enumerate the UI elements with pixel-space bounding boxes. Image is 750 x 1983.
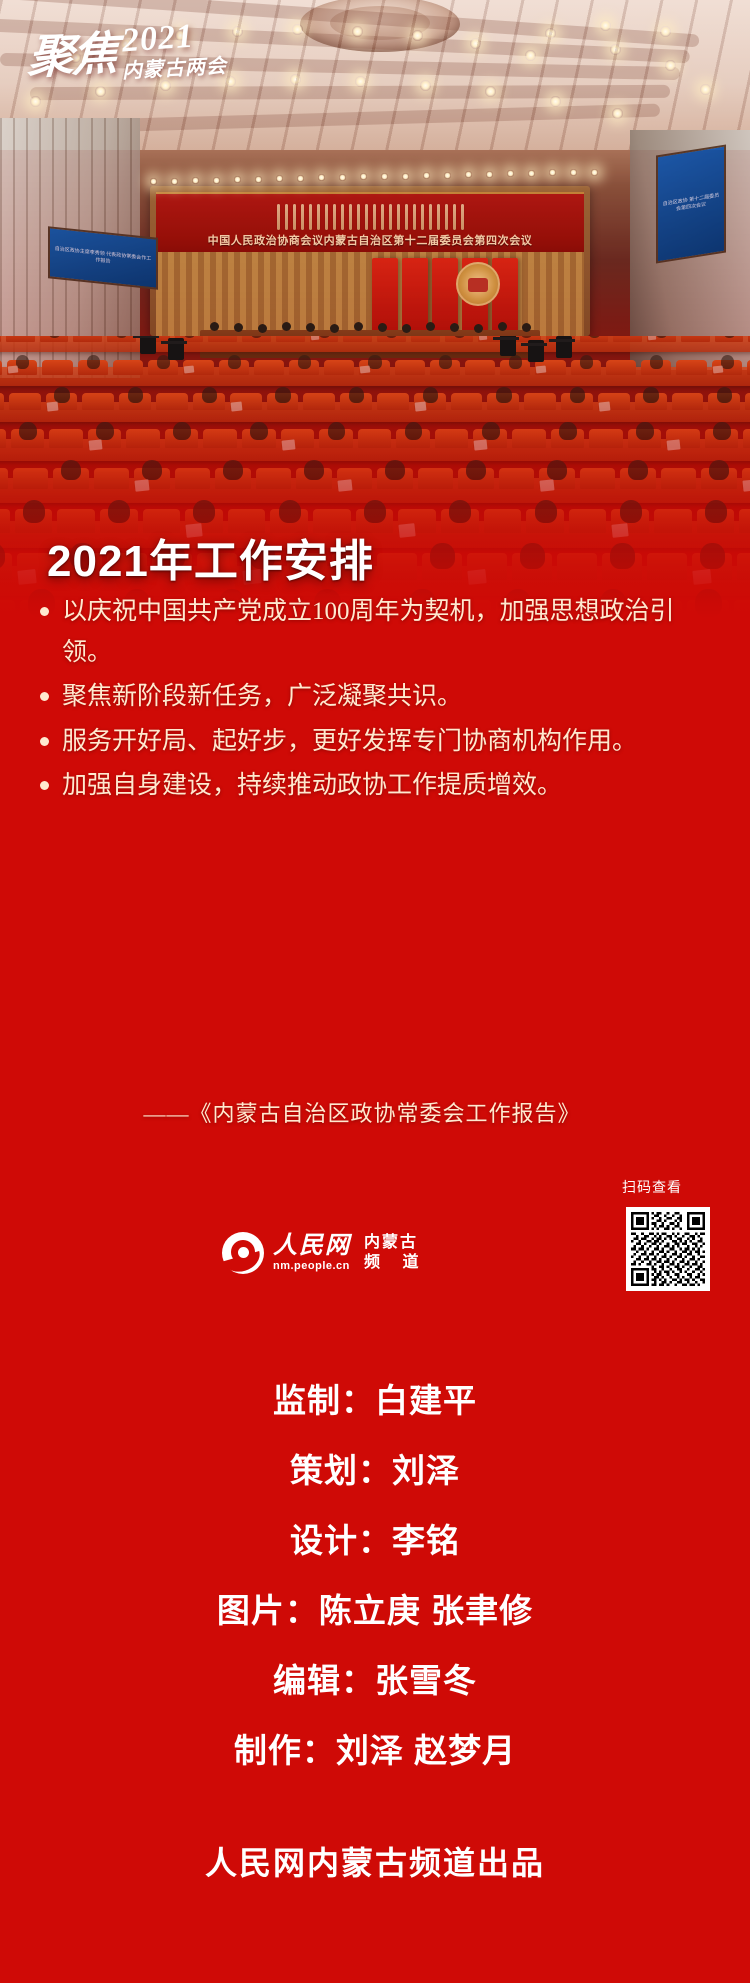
presidium-member bbox=[402, 324, 411, 333]
ceiling-light-icon bbox=[352, 26, 363, 37]
bullet-dot-icon bbox=[40, 781, 49, 790]
ceiling-light-icon bbox=[610, 44, 621, 55]
presidium-member bbox=[474, 324, 483, 333]
presidium-member bbox=[378, 323, 387, 332]
credit-line-producer: 监制：白建平 bbox=[0, 1374, 750, 1422]
qr-code-icon bbox=[631, 1212, 705, 1286]
brand-name-cn: 人民网 bbox=[273, 1234, 351, 1258]
credit-line-editor: 编辑：张雪冬 bbox=[0, 1654, 750, 1702]
ceiling-light-icon bbox=[665, 60, 676, 71]
brand-wordmark: 人民网 nm.people.cn bbox=[273, 1234, 351, 1272]
ceiling-light-icon bbox=[30, 96, 41, 107]
stage-light-icon bbox=[339, 174, 346, 181]
bullet-dot-icon bbox=[40, 737, 49, 746]
ceiling-light-icon bbox=[355, 76, 366, 87]
list-item: 加强自身建设，持续推动政协工作提质增效。 bbox=[40, 766, 706, 807]
list-item: 服务开好局、起好步，更好发挥专门协商机构作用。 bbox=[40, 722, 706, 763]
presidium-member bbox=[330, 324, 339, 333]
ceiling-light-icon bbox=[420, 80, 431, 91]
presidium-member bbox=[498, 322, 507, 331]
logo-brush-title: 聚焦 bbox=[27, 31, 118, 82]
poster-root: 中国人民政治协商会议内蒙古自治区第十二届委员会第四次会议 自治区政协主席李秀领 … bbox=[0, 0, 750, 1983]
list-item: 以庆祝中国共产党成立100周年为契机，加强思想政治引领。 bbox=[40, 592, 706, 673]
ceiling-light-icon bbox=[412, 30, 423, 41]
stage-light-icon bbox=[549, 169, 556, 176]
ceiling-light-icon bbox=[470, 38, 481, 49]
stage-light-icon bbox=[570, 169, 577, 176]
ceiling-light-icon bbox=[292, 24, 303, 35]
stage-light-icon bbox=[297, 175, 304, 182]
logo-subtitle: 内蒙古两会 bbox=[122, 56, 228, 81]
stage-light-icon bbox=[507, 170, 514, 177]
list-item: 聚焦新阶段新任务，广泛凝聚共识。 bbox=[40, 677, 706, 718]
ceiling-light-icon bbox=[525, 50, 536, 61]
stage-light-icon bbox=[444, 172, 451, 179]
credit-line-planner: 策划：刘泽 bbox=[0, 1444, 750, 1492]
logo-year: 2021 bbox=[121, 20, 195, 59]
presidium-member bbox=[450, 323, 459, 332]
bullet-dot-icon bbox=[40, 607, 49, 616]
qr-code[interactable] bbox=[626, 1207, 710, 1291]
stage-light-icon bbox=[192, 177, 199, 184]
logo-right-stack: 2021 内蒙古两会 bbox=[122, 22, 227, 79]
ceiling-light-icon bbox=[550, 96, 561, 107]
ceiling-light-icon bbox=[160, 80, 171, 91]
stage-light-icon bbox=[150, 178, 157, 185]
stage-light-icon bbox=[255, 176, 262, 183]
work-plan-list: 以庆祝中国共产党成立100周年为契机，加强思想政治引领。 聚焦新阶段新任务，广泛… bbox=[40, 592, 706, 811]
ceiling-light-icon bbox=[95, 86, 106, 97]
stage-light-icon bbox=[486, 171, 493, 178]
stage-light-icon bbox=[360, 173, 367, 180]
brand-url: nm.people.cn bbox=[273, 1261, 351, 1272]
stage-light-icon bbox=[402, 173, 409, 180]
globe-swoosh-icon bbox=[223, 1251, 264, 1276]
brand-channel: 内蒙古 频 道 bbox=[364, 1233, 427, 1273]
presidium-member bbox=[210, 322, 219, 331]
page-title: 2021年工作安排 bbox=[47, 525, 374, 589]
credit-line-photos: 图片：陈立庚 张聿修 bbox=[0, 1584, 750, 1632]
brand-channel-line2: 频 道 bbox=[364, 1253, 427, 1273]
ceiling-slat bbox=[60, 104, 660, 134]
credit-line-production: 制作：刘泽 赵梦月 bbox=[0, 1724, 750, 1772]
presidium-member bbox=[354, 322, 363, 331]
presidium-member bbox=[426, 322, 435, 331]
credit-line-designer: 设计：李铭 bbox=[0, 1514, 750, 1562]
bullet-dot-icon bbox=[40, 692, 49, 701]
presidium-member bbox=[234, 323, 243, 332]
campaign-logo: 聚焦 2021 内蒙古两会 bbox=[28, 22, 227, 79]
stage-light-icon bbox=[591, 169, 598, 176]
credits-block: 监制：白建平 策划：刘泽 设计：李铭 图片：陈立庚 张聿修 编辑：张雪冬 制作：… bbox=[0, 1374, 750, 1794]
stage-light-icon bbox=[234, 176, 241, 183]
ceiling-light-icon bbox=[600, 20, 611, 31]
ceiling-light-icon bbox=[485, 86, 496, 97]
ceiling-dome-inner bbox=[330, 6, 430, 40]
produced-by-footer: 人民网内蒙古频道出品 bbox=[0, 1838, 750, 1884]
stage-light-icon bbox=[465, 171, 472, 178]
ceiling-light-icon bbox=[660, 26, 671, 37]
peoples-daily-logo[interactable]: 人民网 nm.people.cn 内蒙古 频 道 bbox=[222, 1232, 427, 1274]
ceiling-light-icon bbox=[290, 74, 301, 85]
qr-scan-label: 扫码查看 bbox=[622, 1177, 682, 1197]
list-item-text: 服务开好局、起好步，更好发挥专门协商机构作用。 bbox=[62, 722, 706, 763]
source-attribution: ——《内蒙古自治区政协常委会工作报告》 bbox=[0, 1096, 750, 1128]
presidium-member bbox=[522, 323, 531, 332]
brand-channel-line1: 内蒙古 bbox=[364, 1233, 427, 1253]
list-item-text: 以庆祝中国共产党成立100周年为契机，加强思想政治引领。 bbox=[62, 592, 706, 673]
presidium-member bbox=[306, 323, 315, 332]
stage-light-icon bbox=[381, 173, 388, 180]
ceiling-dome bbox=[300, 0, 460, 52]
ceiling-light-icon bbox=[700, 84, 711, 95]
stage-light-icon bbox=[528, 170, 535, 177]
peoples-daily-globe-icon bbox=[222, 1232, 264, 1274]
ceiling-light-icon bbox=[545, 28, 556, 39]
presidium-member bbox=[258, 324, 267, 333]
ceiling-light-icon bbox=[232, 26, 243, 37]
list-item-text: 加强自身建设，持续推动政协工作提质增效。 bbox=[62, 766, 706, 807]
stage-light-icon bbox=[213, 177, 220, 184]
stage-light-icon bbox=[276, 175, 283, 182]
stage-light-icon bbox=[423, 172, 430, 179]
ceiling-light-icon bbox=[612, 108, 623, 119]
presidium-member bbox=[282, 322, 291, 331]
stage-light-icon bbox=[318, 174, 325, 181]
stage-light-icon bbox=[171, 178, 178, 185]
list-item-text: 聚焦新阶段新任务，广泛凝聚共识。 bbox=[62, 677, 706, 718]
ceiling-slat bbox=[30, 85, 670, 100]
